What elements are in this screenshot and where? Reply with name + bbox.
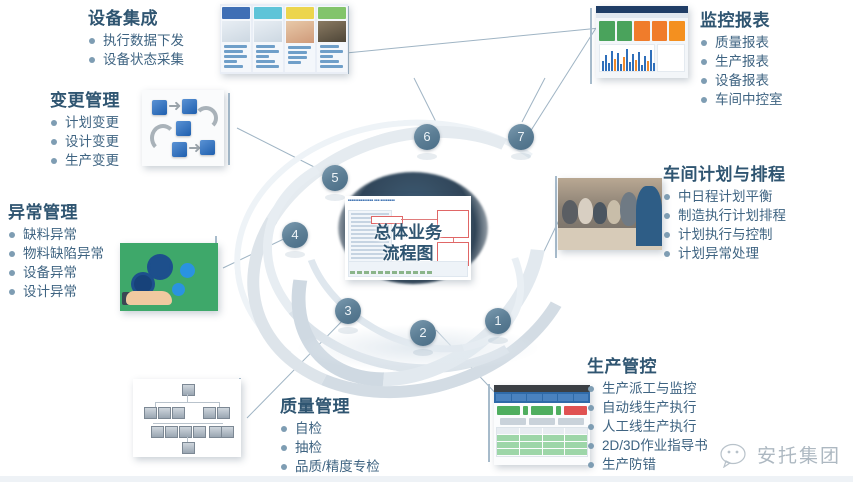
block-change-management: 变更管理 计划变更 设计变更 生产变更: [50, 86, 120, 170]
block-monitoring-reports: 监控报表 质量报表 生产报表 设备报表 车间中控室: [700, 6, 783, 109]
block-exception-management: 异常管理 缺料异常 物料缺陷异常 设备异常 设计异常: [8, 198, 104, 301]
list-item: 设备状态采集: [88, 50, 184, 69]
list-item: 物料缺陷异常: [8, 244, 104, 263]
equipment-integration-thumbnail[interactable]: [220, 4, 348, 74]
list-item: 缺料异常: [8, 225, 104, 244]
list-item: 品质/精度专检: [280, 457, 390, 476]
quality-dashboard-thumbnail[interactable]: [494, 385, 590, 465]
change-management-title: 变更管理: [50, 86, 120, 111]
list-item: 生产派工与监控: [587, 379, 708, 398]
quality-management-list: 自检 抽检 品质/精度专检 质量统计与分析: [280, 419, 390, 482]
exception-management-list: 缺料异常 物料缺陷异常 设备异常 设计异常: [8, 225, 104, 301]
workshop-planning-title: 车间计划与排程: [663, 160, 786, 185]
infographic-canvas: ■■■■■■■■■■■■■■ ■■■ ■■■■■■■■ 总体业务 流程图 1 2…: [0, 0, 853, 482]
list-item: 2D/3D作业指导书: [587, 436, 708, 455]
list-item: 计划异常处理: [663, 244, 786, 263]
change-management-icon[interactable]: ➜ ➜: [142, 90, 224, 166]
node-7[interactable]: 7: [508, 124, 534, 150]
node-3[interactable]: 3: [335, 298, 361, 324]
list-item: 设备报表: [700, 71, 783, 90]
block-quality-management: 质量管理 自检 抽检 品质/精度专检 质量统计与分析: [280, 392, 390, 482]
list-item: 生产防错: [587, 455, 708, 474]
list-item: 执行数据下发: [88, 31, 184, 50]
change-management-list: 计划变更 设计变更 生产变更: [50, 113, 120, 170]
block-production-control: 生产管控 生产派工与监控 自动线生产执行 人工线生产执行 2D/3D作业指导书 …: [587, 352, 708, 482]
node-6[interactable]: 6: [414, 124, 440, 150]
list-item: 设备异常: [8, 263, 104, 282]
node-1[interactable]: 1: [485, 308, 511, 334]
production-control-title: 生产管控: [587, 352, 708, 377]
block-workshop-planning: 车间计划与排程 中日程计划平衡 制造执行计划排程 计划执行与控制 计划异常处理: [663, 160, 786, 263]
list-item: 中日程计划平衡: [663, 187, 786, 206]
node-5[interactable]: 5: [322, 165, 348, 191]
watermark: 安托集团: [719, 441, 841, 468]
list-item: 人工线生产执行: [587, 417, 708, 436]
center-title-line1: 总体业务: [345, 222, 471, 243]
list-item: 抽检: [280, 438, 390, 457]
block-equipment-integration: 设备集成 执行数据下发 设备状态采集: [88, 4, 184, 69]
list-item: 质量报表: [700, 33, 783, 52]
bottom-edge: [0, 476, 853, 482]
list-item: 生产报表: [700, 52, 783, 71]
quality-management-title: 质量管理: [280, 392, 390, 417]
exception-management-illustration[interactable]: [120, 243, 218, 311]
equipment-integration-list: 执行数据下发 设备状态采集: [88, 31, 184, 69]
monitoring-reports-list: 质量报表 生产报表 设备报表 车间中控室: [700, 33, 783, 109]
list-item: 设计变更: [50, 132, 120, 151]
overall-business-flow-thumbnail[interactable]: ■■■■■■■■■■■■■■ ■■■ ■■■■■■■■ 总体业务 流程图: [345, 196, 471, 280]
exception-management-title: 异常管理: [8, 198, 104, 223]
watermark-text: 安托集团: [757, 441, 841, 468]
workshop-planning-photo[interactable]: [558, 178, 662, 250]
center-title-line2: 流程图: [345, 243, 471, 264]
list-item: 自动线生产执行: [587, 398, 708, 417]
list-item: 设计异常: [8, 282, 104, 301]
equipment-integration-title: 设备集成: [88, 4, 184, 29]
list-item: 生产变更: [50, 151, 120, 170]
list-item: 车间中控室: [700, 90, 783, 109]
node-4[interactable]: 4: [282, 222, 308, 248]
list-item: 计划变更: [50, 113, 120, 132]
workshop-planning-list: 中日程计划平衡 制造执行计划排程 计划执行与控制 计划异常处理: [663, 187, 786, 263]
network-topology-thumbnail[interactable]: [133, 379, 241, 457]
wechat-bubble-icon: [719, 442, 749, 468]
production-control-list: 生产派工与监控 自动线生产执行 人工线生产执行 2D/3D作业指导书 生产防错 …: [587, 379, 708, 482]
monitoring-dashboard-thumbnail[interactable]: [596, 6, 688, 78]
monitoring-reports-title: 监控报表: [700, 6, 783, 31]
list-item: 计划执行与控制: [663, 225, 786, 244]
node-2[interactable]: 2: [410, 320, 436, 346]
list-item: 制造执行计划排程: [663, 206, 786, 225]
list-item: 自检: [280, 419, 390, 438]
